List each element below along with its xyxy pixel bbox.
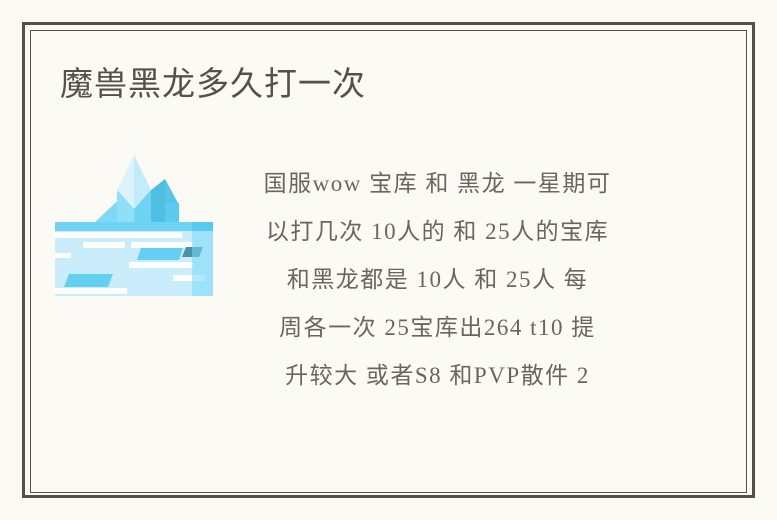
body-line: 以打几次 10人的 和 25人的宝库: [230, 208, 645, 256]
body-line: 和黑龙都是 10人 和 25人 每: [230, 256, 645, 304]
body-line: 升较大 或者S8 和PVP散件 2: [230, 352, 645, 400]
page-title: 魔兽黑龙多久打一次: [60, 63, 366, 105]
iceberg-illustration: [55, 143, 213, 298]
body-line: 周各一次 25宝库出264 t10 提: [230, 304, 645, 352]
article-card: 魔兽黑龙多久打一次: [0, 0, 777, 520]
body-line: 国服wow 宝库 和 黑龙 一星期可: [230, 160, 645, 208]
article-body: 国服wow 宝库 和 黑龙 一星期可 以打几次 10人的 和 25人的宝库 和黑…: [230, 160, 645, 400]
